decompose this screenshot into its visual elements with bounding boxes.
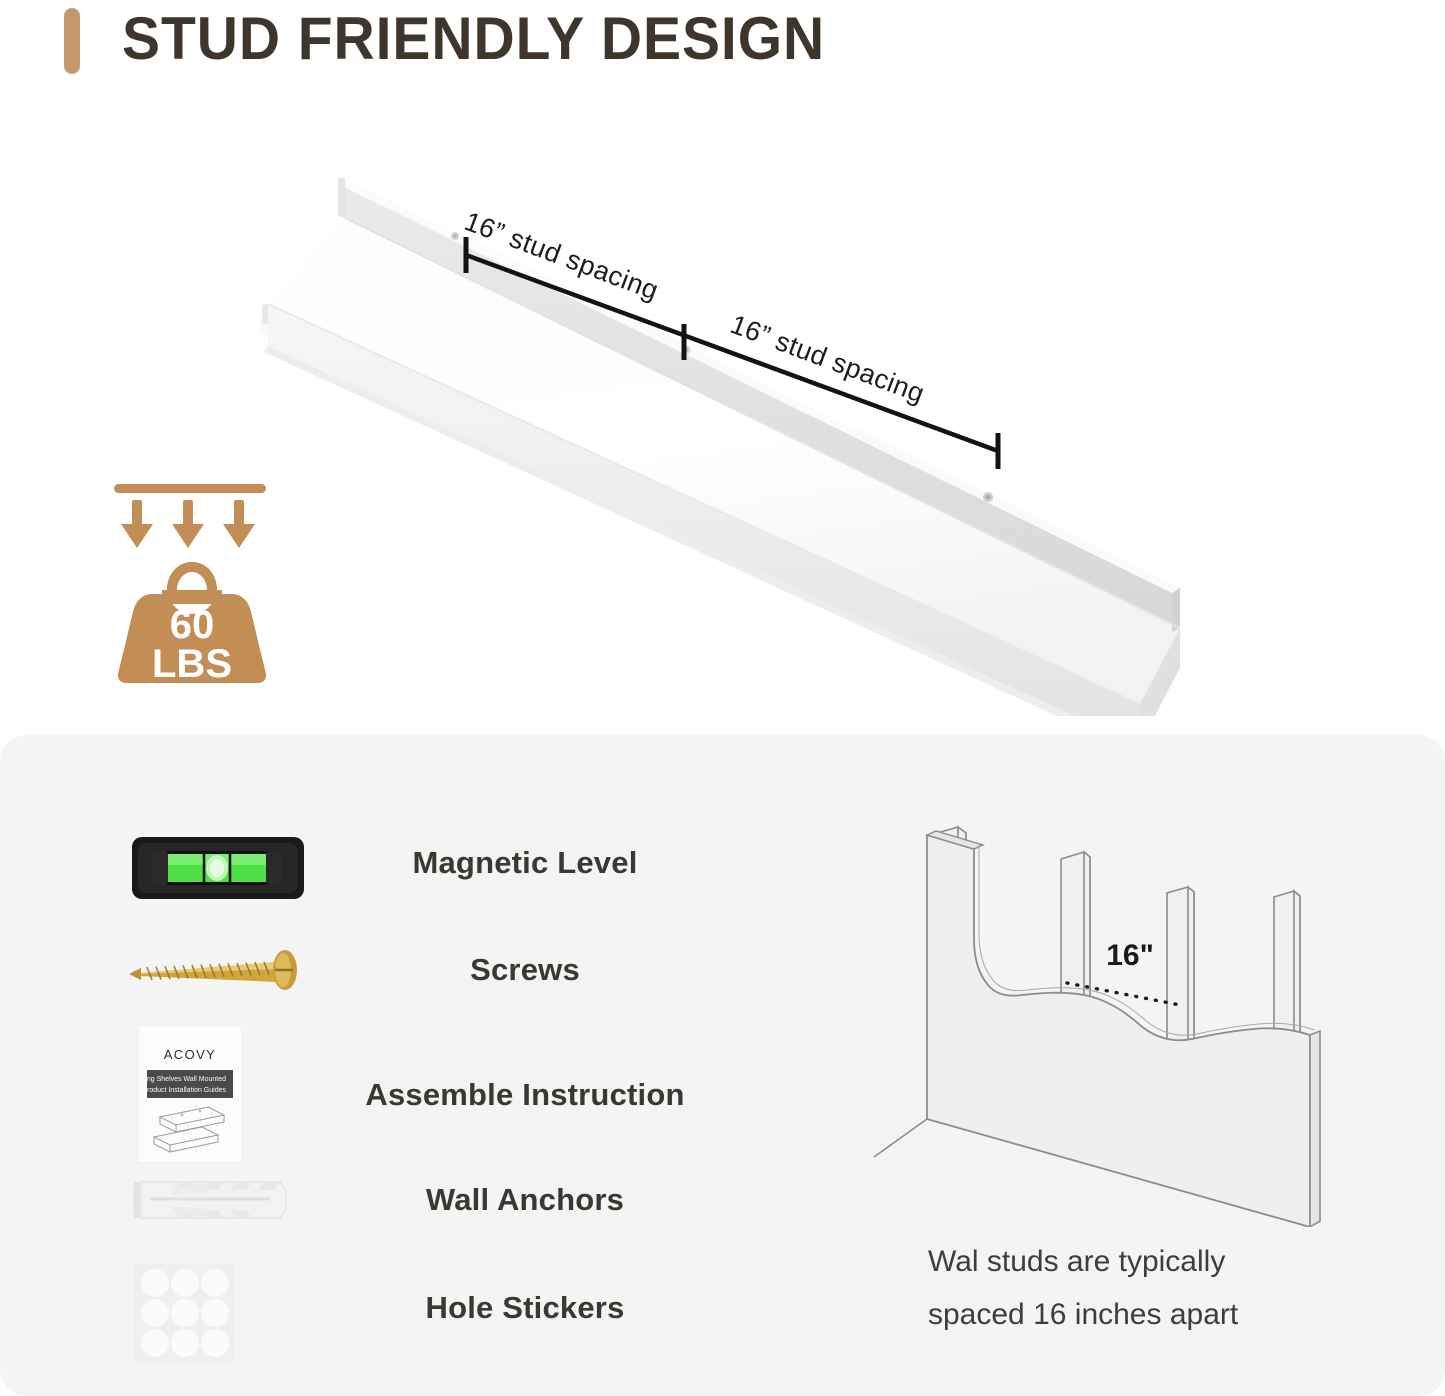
- weight-value: 60: [170, 603, 215, 647]
- weight-capacity-badge: 60 LBS: [110, 478, 295, 683]
- booklet-brand: ACOVY: [164, 1047, 217, 1062]
- down-arrow-icon: [121, 500, 153, 548]
- load-bar-icon: [114, 484, 266, 493]
- down-arrow-icon: [172, 500, 204, 548]
- infographic-page: STUD FRIENDLY DESIGN: [0, 0, 1445, 1396]
- accessories-panel: Magnetic Level: [0, 735, 1445, 1396]
- accessory-label: Wall Anchors: [315, 1182, 735, 1218]
- caption-line-1: Wal studs are typically: [928, 1235, 1348, 1288]
- magnetic-level-icon: [128, 823, 308, 913]
- stud-diagram-caption: Wal studs are typically spaced 16 inches…: [928, 1235, 1348, 1341]
- accessory-label: Hole Stickers: [315, 1290, 735, 1326]
- hole-stickers-icon: [135, 1263, 235, 1363]
- weight-unit: LBS: [152, 642, 232, 683]
- caption-line-2: spaced 16 inches apart: [928, 1288, 1348, 1341]
- instruction-booklet-icon: ACOVY Floating Shelves Wall Mounted Prod…: [138, 1025, 242, 1163]
- screw-icon: [125, 940, 310, 1002]
- accessory-label: Screws: [315, 952, 735, 988]
- booklet-line2: Product Installation Guides: [142, 1087, 226, 1094]
- title-accent-bar: [64, 8, 80, 74]
- stud-measure-label: 16": [1106, 939, 1154, 972]
- stud-wall-diagram: 16": [862, 797, 1332, 1227]
- wall-anchor-icon: [120, 1170, 300, 1230]
- page-title: STUD FRIENDLY DESIGN: [122, 4, 825, 73]
- accessory-label: Magnetic Level: [315, 845, 735, 881]
- header: STUD FRIENDLY DESIGN: [0, 0, 1445, 96]
- down-arrow-icon: [223, 500, 255, 548]
- accessory-label: Assemble Instruction: [315, 1077, 735, 1113]
- booklet-line1: Floating Shelves Wall Mounted: [138, 1076, 226, 1083]
